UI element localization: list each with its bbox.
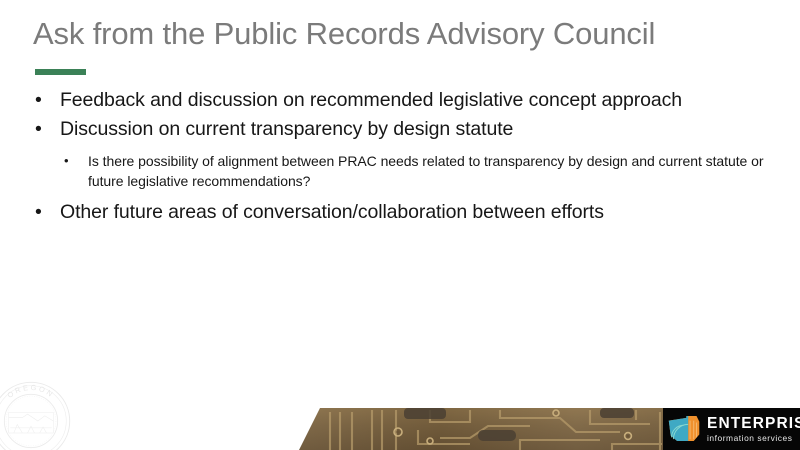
svg-text:OREGON: OREGON xyxy=(6,383,57,400)
logo-title: ENTERPRISE xyxy=(707,416,800,432)
list-spacer xyxy=(30,191,780,198)
list-item-label: Other future areas of conversation/colla… xyxy=(60,201,604,223)
body-bullet-list: • Feedback and discussion on recommended… xyxy=(30,86,780,227)
bullet-marker-icon: • xyxy=(64,151,69,171)
sub-list-item-label: Is there possibility of alignment betwee… xyxy=(88,153,764,189)
list-item-label: Discussion on current transparency by de… xyxy=(60,118,513,140)
logo-subtitle: information services xyxy=(707,434,800,442)
list-item: • Feedback and discussion on recommended… xyxy=(30,86,780,115)
bullet-marker-icon: • xyxy=(35,86,42,115)
bullet-marker-icon: • xyxy=(35,198,42,227)
list-item-label: Feedback and discussion on recommended l… xyxy=(60,89,682,111)
list-spacer xyxy=(30,144,780,151)
list-item: • Discussion on current transparency by … xyxy=(30,115,780,144)
title-accent-bar xyxy=(35,69,86,75)
sub-list-item: • Is there possibility of alignment betw… xyxy=(30,151,780,191)
list-item: • Other future areas of conversation/col… xyxy=(30,198,780,227)
enterprise-information-services-logo: ENTERPRISE information services xyxy=(663,408,800,450)
logo-text-group: ENTERPRISE information services xyxy=(707,416,800,442)
bullet-marker-icon: • xyxy=(35,115,42,144)
oregon-state-seal-icon: OREGON xyxy=(0,378,74,450)
slide: Ask from the Public Records Advisory Cou… xyxy=(0,0,800,450)
oregon-shape-logo-icon xyxy=(666,413,703,445)
page-title: Ask from the Public Records Advisory Cou… xyxy=(33,14,773,54)
